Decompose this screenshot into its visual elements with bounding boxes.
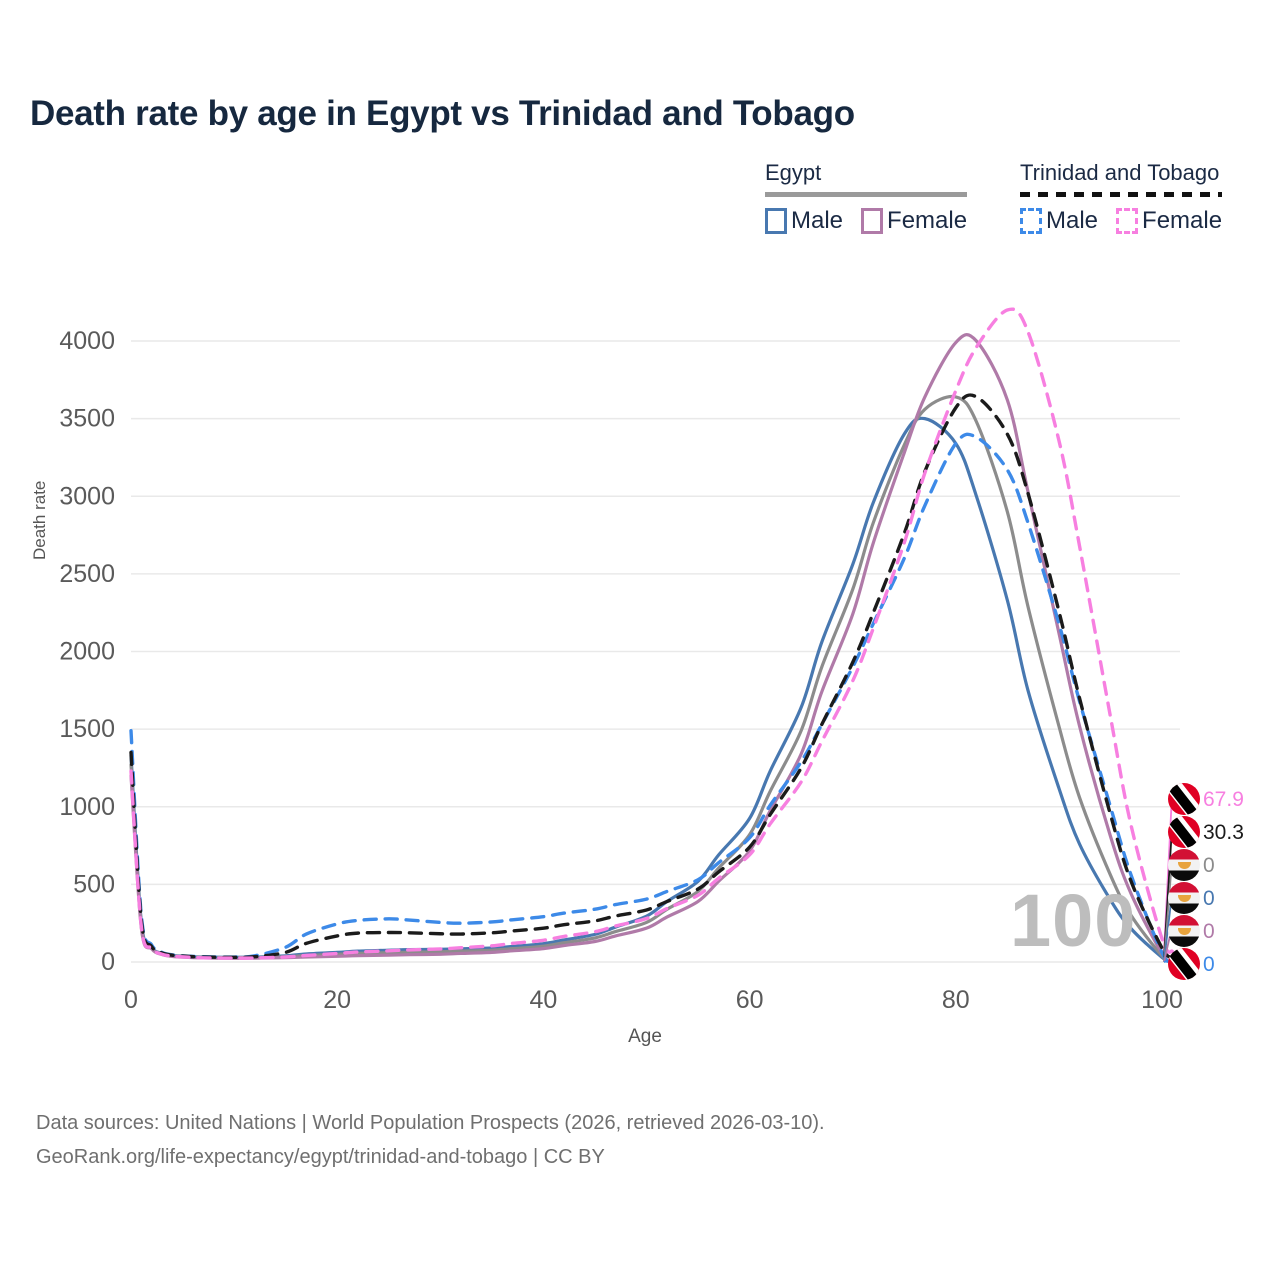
- x-tick-label: 0: [124, 986, 138, 1014]
- y-tick-label: 3500: [59, 405, 115, 433]
- x-tick-label: 80: [942, 986, 970, 1014]
- y-tick-label: 2500: [59, 560, 115, 588]
- end-label-value: 0: [1203, 954, 1215, 975]
- footer-sources: Data sources: United Nations | World Pop…: [36, 1106, 825, 1174]
- end-label-row: 0: [1168, 947, 1215, 981]
- end-label-row: 0: [1168, 881, 1215, 915]
- x-tick-label: 20: [323, 986, 351, 1014]
- y-tick-label: 3000: [59, 482, 115, 510]
- series-line: [131, 335, 1172, 962]
- series-line: [131, 418, 1172, 962]
- y-tick-label: 1500: [59, 715, 115, 743]
- y-tick-label: 0: [101, 948, 115, 976]
- trinidad-and-tobago-flag-icon: [1168, 948, 1200, 980]
- end-label-row: 0: [1168, 914, 1215, 948]
- y-tick-label: 2000: [59, 638, 115, 666]
- series-line: [131, 434, 1172, 962]
- y-tick-label: 4000: [59, 327, 115, 355]
- egypt-flag-icon: [1168, 882, 1200, 914]
- series-line: [131, 397, 1172, 962]
- end-label-row: 67.9: [1168, 782, 1244, 816]
- y-tick-label: 1000: [59, 793, 115, 821]
- end-label-value: 0: [1203, 855, 1215, 876]
- end-label-value: 0: [1203, 888, 1215, 909]
- end-label-value: 30.3: [1203, 822, 1244, 843]
- x-tick-label: 60: [736, 986, 764, 1014]
- plot-area: 0500100015002000250030003500400002040608…: [0, 0, 1280, 1090]
- trinidad-and-tobago-flag-icon: [1168, 816, 1200, 848]
- y-axis-label: Death rate: [30, 481, 50, 560]
- egypt-flag-icon: [1168, 915, 1200, 947]
- x-tick-label: 40: [529, 986, 557, 1014]
- footer-line-2: GeoRank.org/life-expectancy/egypt/trinid…: [36, 1140, 825, 1174]
- series-end-labels: 67.930.30000: [1168, 770, 1280, 985]
- end-label-value: 0: [1203, 921, 1215, 942]
- y-tick-label: 500: [73, 870, 115, 898]
- chart-page: Death rate by age in Egypt vs Trinidad a…: [0, 0, 1280, 1280]
- x-tick-label: 100: [1141, 986, 1183, 1014]
- end-label-row: 0: [1168, 848, 1215, 882]
- egypt-flag-icon: [1168, 849, 1200, 881]
- trinidad-and-tobago-flag-icon: [1168, 783, 1200, 815]
- footer-line-1: Data sources: United Nations | World Pop…: [36, 1106, 825, 1140]
- line-chart-svg: 0500100015002000250030003500400002040608…: [0, 0, 1280, 1090]
- end-label-row: 30.3: [1168, 815, 1244, 849]
- end-label-value: 67.9: [1203, 789, 1244, 810]
- x-axis-label: Age: [0, 1026, 1280, 1048]
- series-line: [131, 395, 1172, 957]
